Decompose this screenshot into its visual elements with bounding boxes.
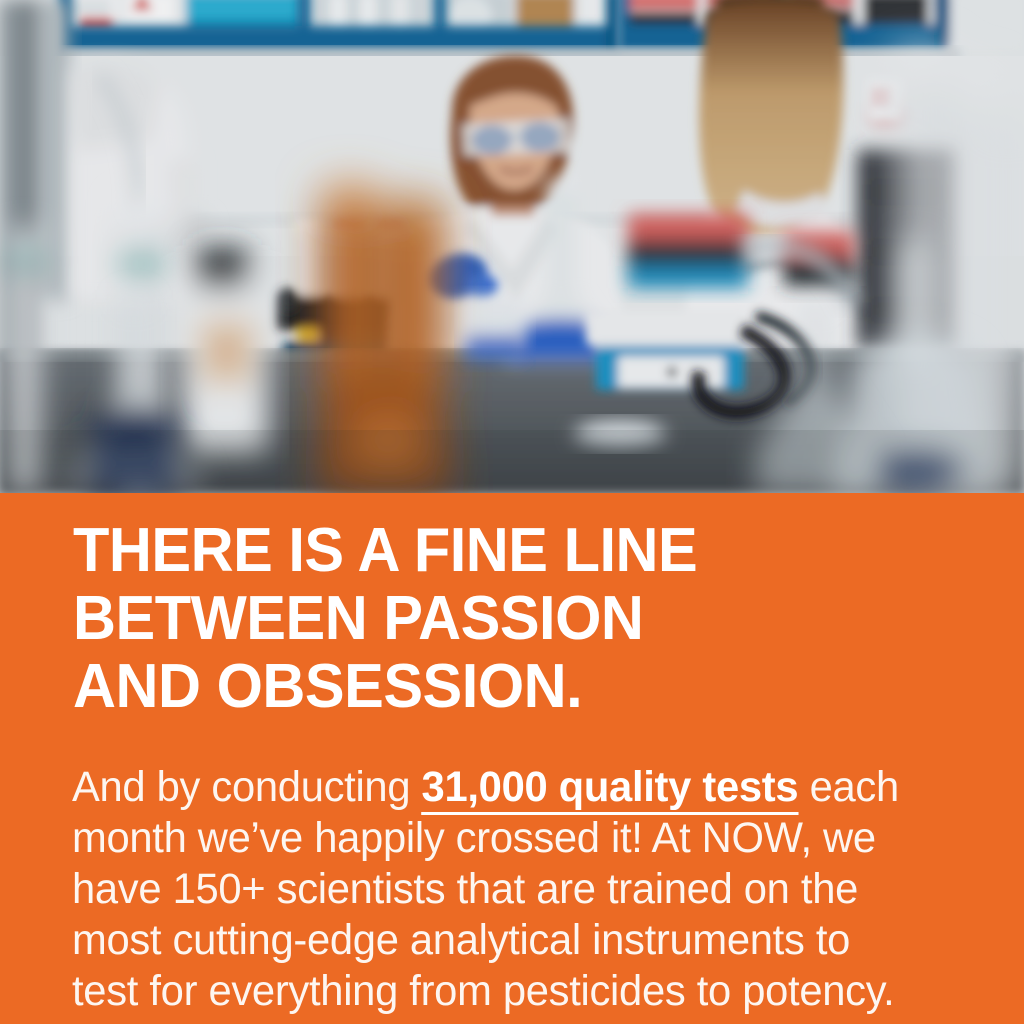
page-title: THERE IS A FINE LINE BETWEEN PASSION AND… xyxy=(73,517,918,721)
social-promo-card: 500 xyxy=(0,0,1024,1024)
body-copy: And by conducting 31,000 quality tests e… xyxy=(72,762,916,1017)
orange-message-panel: THERE IS A FINE LINE BETWEEN PASSION AND… xyxy=(0,493,1024,1024)
laboratory-photo: 500 xyxy=(0,0,1024,494)
body-copy-before: And by conducting xyxy=(72,763,422,811)
laboratory-photo-illustration: 500 xyxy=(0,0,1024,494)
quality-tests-emphasis: 31,000 quality tests xyxy=(422,763,799,815)
